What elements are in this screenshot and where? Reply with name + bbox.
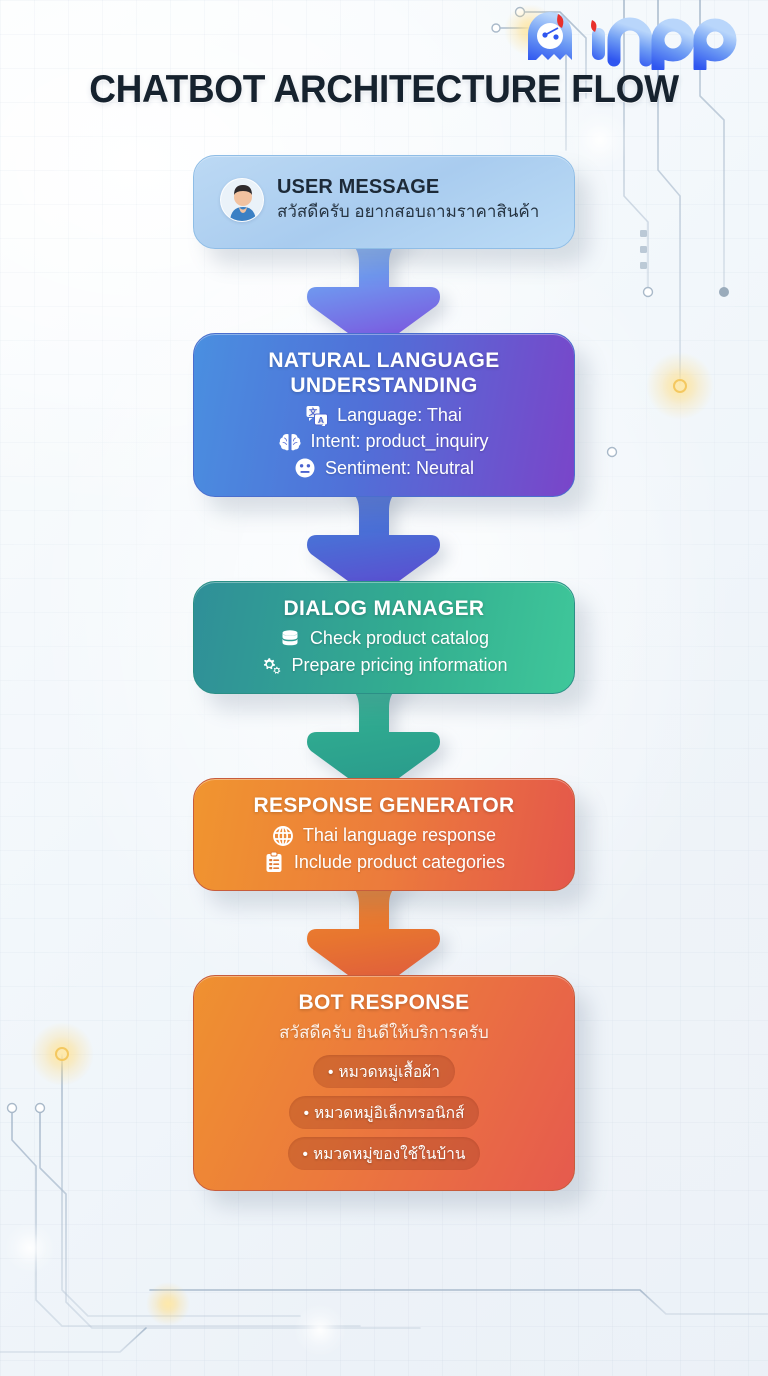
flow-step-nlu[interactable]: NATURAL LANGUAGE UNDERSTANDING 文 A — [193, 333, 575, 596]
nlu-row-sentiment-label: Sentiment: Neutral — [325, 457, 474, 480]
nlu-title-line1: NATURAL LANGUAGE — [268, 349, 499, 372]
arrow-nlu-to-dialog — [193, 483, 575, 595]
category-pill[interactable]: •หมวดหมู่เสื้อผ้า — [313, 1055, 455, 1088]
neutral-face-icon — [294, 457, 316, 479]
respgen-row-language: Thai language response — [272, 824, 496, 847]
aiapp-logo — [522, 8, 746, 70]
respgen-row-categories-label: Include product categories — [294, 851, 505, 874]
user-message-title: USER MESSAGE — [277, 176, 539, 200]
gears-icon — [260, 654, 282, 676]
bot-response-category-pills: •หมวดหมู่เสื้อผ้า •หมวดหมู่อิเล็กทรอนิกส… — [214, 1055, 554, 1174]
nlu-card[interactable]: NATURAL LANGUAGE UNDERSTANDING 文 A — [193, 333, 575, 498]
respgen-row-language-label: Thai language response — [303, 824, 496, 847]
translate-icon: 文 A — [306, 405, 328, 427]
dialog-row-catalog-label: Check product catalog — [310, 627, 489, 650]
pill-bullet: • — [304, 1105, 309, 1122]
pill-bullet: • — [303, 1146, 308, 1163]
dialog-row-catalog: Check product catalog — [279, 627, 489, 650]
arrow-response-to-bot — [193, 877, 575, 989]
dialog-row-pricing: Prepare pricing information — [260, 654, 507, 677]
user-message-text: สวัสดีครับ อยากสอบถามราคาสินค้า — [277, 201, 539, 224]
response-generator-card[interactable]: RESPONSE GENERATOR Thai language respons… — [193, 778, 575, 891]
arrow-dialog-to-response — [193, 680, 575, 792]
flow-step-user-message[interactable]: USER MESSAGE สวัสดีครับ อยากสอบถามราคาสิ… — [193, 155, 575, 347]
pill-label: หมวดหมู่เสื้อผ้า — [338, 1064, 440, 1081]
bot-response-title: BOT RESPONSE — [214, 990, 554, 1015]
flow-diagram: USER MESSAGE สวัสดีครับ อยากสอบถามราคาสิ… — [193, 155, 575, 1191]
nlu-row-language: 文 A Language: Thai — [306, 404, 462, 427]
category-pill[interactable]: •หมวดหมู่ของใช้ในบ้าน — [288, 1137, 481, 1170]
clipboard-list-icon — [263, 851, 285, 873]
flow-step-response-generator[interactable]: RESPONSE GENERATOR Thai language respons… — [193, 778, 575, 989]
dialog-row-pricing-label: Prepare pricing information — [291, 654, 507, 677]
user-avatar-icon — [220, 178, 264, 222]
response-generator-title: RESPONSE GENERATOR — [214, 793, 554, 818]
category-pill[interactable]: •หมวดหมู่อิเล็กทรอนิกส์ — [289, 1096, 480, 1129]
dialog-manager-card[interactable]: DIALOG MANAGER Check product catalog — [193, 581, 575, 694]
dialog-manager-title: DIALOG MANAGER — [214, 596, 554, 621]
pill-label: หมวดหมู่ของใช้ในบ้าน — [313, 1146, 466, 1163]
flow-step-bot-response[interactable]: BOT RESPONSE สวัสดีครับ ยินดีให้บริการคร… — [193, 975, 575, 1191]
nlu-title-line2: UNDERSTANDING — [290, 374, 477, 397]
respgen-row-categories: Include product categories — [263, 851, 505, 874]
pill-label: หมวดหมู่อิเล็กทรอนิกส์ — [314, 1105, 464, 1122]
user-message-card[interactable]: USER MESSAGE สวัสดีครับ อยากสอบถามราคาสิ… — [193, 155, 575, 249]
arrow-user-to-nlu — [193, 235, 575, 347]
pill-bullet: • — [328, 1064, 333, 1081]
globe-icon — [272, 825, 294, 847]
bot-response-card[interactable]: BOT RESPONSE สวัสดีครับ ยินดีให้บริการคร… — [193, 975, 575, 1191]
svg-text:A: A — [318, 415, 324, 425]
nlu-row-intent-label: Intent: product_inquiry — [310, 430, 488, 453]
page-title: CHATBOT ARCHITECTURE FLOW — [19, 68, 749, 112]
brain-icon — [279, 431, 301, 453]
flow-step-dialog-manager[interactable]: DIALOG MANAGER Check product catalog — [193, 581, 575, 792]
nlu-title: NATURAL LANGUAGE UNDERSTANDING — [214, 348, 554, 398]
bot-response-text: สวัสดีครับ ยินดีให้บริการครับ — [214, 1019, 554, 1046]
nlu-row-language-label: Language: Thai — [337, 404, 462, 427]
nlu-row-sentiment: Sentiment: Neutral — [294, 457, 474, 480]
database-icon — [279, 628, 301, 650]
nlu-row-intent: Intent: product_inquiry — [279, 430, 488, 453]
